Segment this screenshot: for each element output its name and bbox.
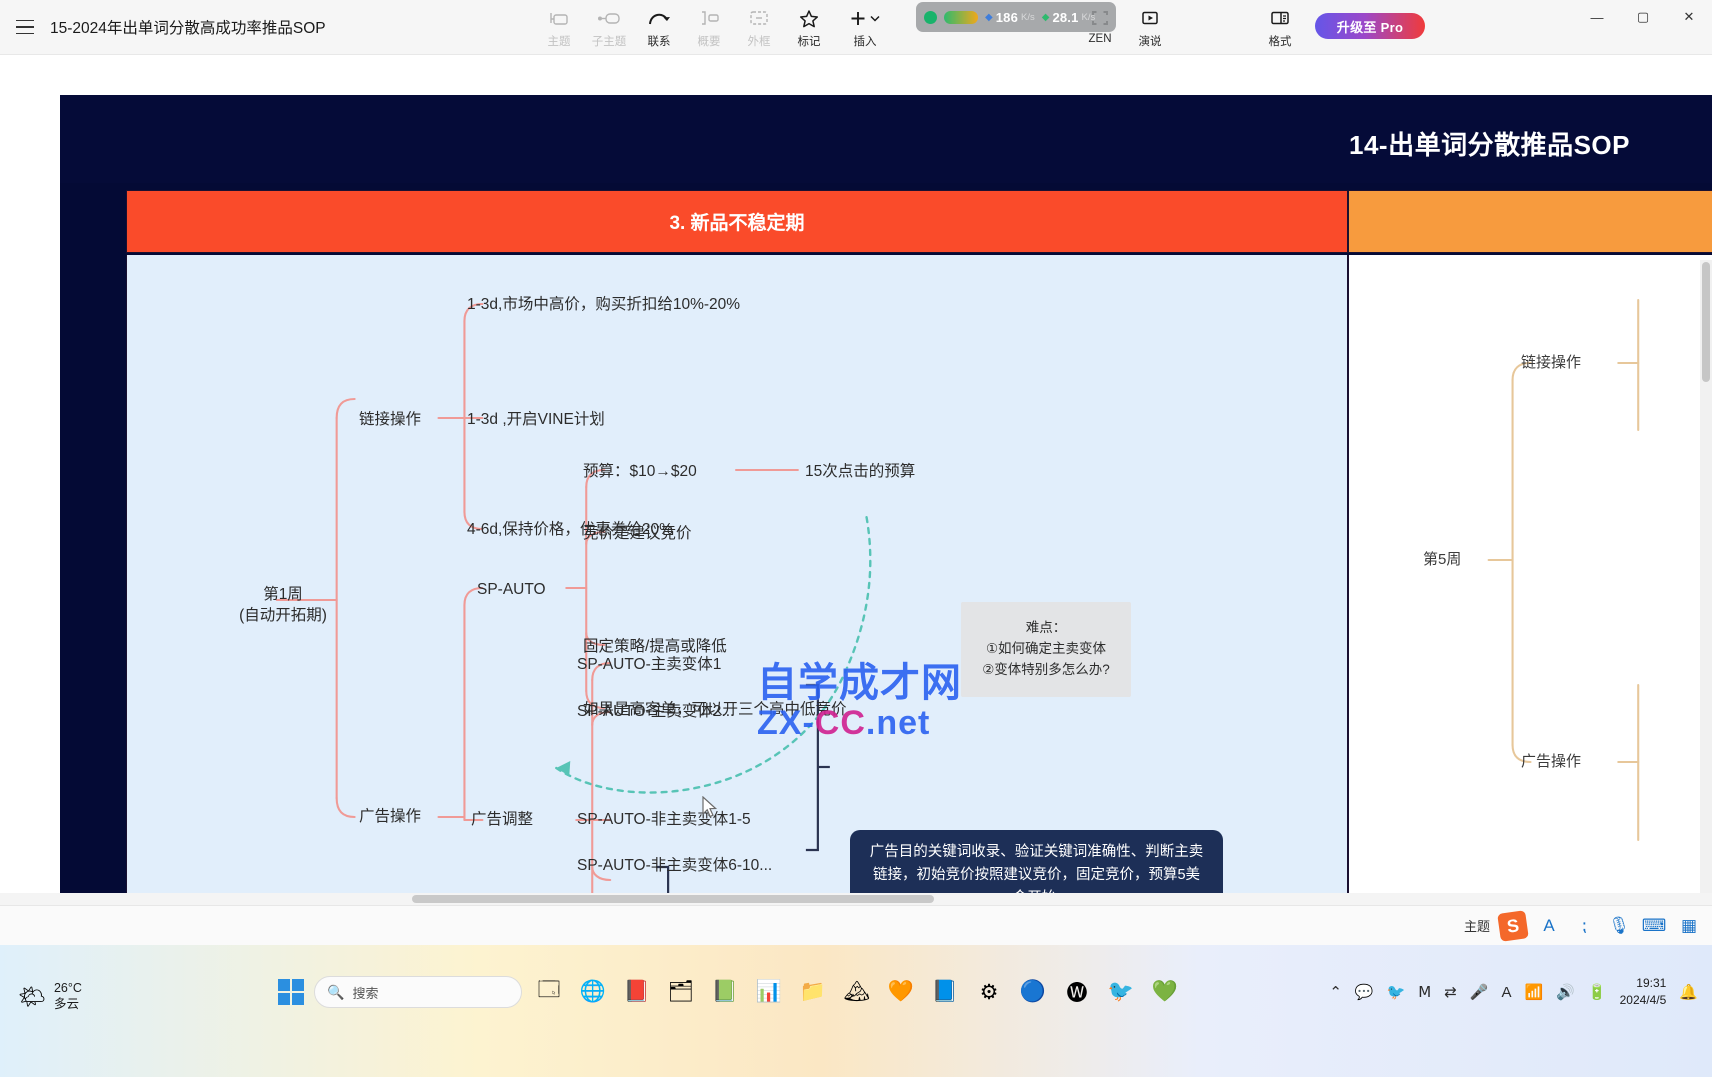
search-placeholder: 搜索 [352, 983, 378, 1002]
insert-plus-icon [846, 7, 884, 29]
node-sp-auto-child-1[interactable]: 竞价是建议竞价 [583, 524, 692, 545]
tool-format-label: 格式 [1269, 33, 1292, 49]
taskbar-app-edge[interactable]: 🌐 [576, 975, 610, 1009]
tencent-tray-icon[interactable]: 🐦 [1387, 983, 1406, 1001]
punctuation-icon[interactable]: ⁏ [1571, 913, 1597, 939]
title-bar: 15-2024年出单词分散高成功率推品SOP 主题 子主题 联系 [0, 0, 1712, 55]
callout-difficulty-line1: ①如何确定主卖变体 [986, 639, 1106, 660]
tool-topic-label: 主题 [548, 33, 571, 49]
taskbar-app-chrome[interactable]: 🔵 [1016, 975, 1050, 1009]
statusbar-theme-label[interactable]: 主题 [1464, 916, 1490, 935]
taskbar-app-file-explorer[interactable]: 🗂 [664, 975, 698, 1009]
upload-arrow-icon: ◆ [1042, 12, 1050, 23]
taskbar: 🌤 26°C 多云 🔍 搜索 🗔 🌐 📕 🗂 📗 📊 📁 🏔 🧡 📘 [0, 945, 1712, 1077]
volume-icon[interactable]: 🔊 [1556, 983, 1575, 1001]
windows-start-icon[interactable] [278, 979, 304, 1005]
column-header-unstable-period: 3. 新品不稳定期 [126, 190, 1348, 253]
system-tray: ⌃ 💬 🐦 Ⅿ ⇄ 🎤 A 📶 🔊 🔋 19:31 2024/4/5 🔔 [1329, 975, 1698, 1010]
window-controls: — ▢ ✕ [1574, 0, 1712, 34]
node-sp-auto-child-0[interactable]: 预算：$10→$20 [583, 462, 697, 483]
marker-icon [797, 7, 821, 29]
apps-grid-icon[interactable]: ▦ [1676, 913, 1702, 939]
taskbar-app-xmind2[interactable]: 🧡 [884, 975, 918, 1009]
summary-icon [697, 7, 721, 29]
gradient-meter-icon [944, 11, 978, 24]
boundary-icon [747, 7, 771, 29]
tool-zen-label: ZEN [1089, 33, 1112, 45]
taskbar-weather-widget[interactable]: 🌤 26°C 多云 [18, 981, 82, 1012]
tool-marker[interactable]: 标记 [784, 4, 834, 49]
search-input[interactable]: 🔍 搜索 [314, 976, 522, 1008]
download-arrow-icon: ◆ [985, 12, 993, 23]
status-bar: 主题 S A ⁏ 🎙 ⌨ ▦ [0, 905, 1712, 945]
taskbar-app-xmind[interactable]: 📊 [752, 975, 786, 1009]
hamburger-menu-icon[interactable] [8, 11, 42, 43]
vertical-scrollbar[interactable] [1700, 260, 1712, 905]
taskbar-app-folder[interactable]: 📁 [796, 975, 830, 1009]
weather-description: 多云 [54, 997, 82, 1013]
taskbar-app-tencent[interactable]: 🐦 [1104, 975, 1138, 1009]
main-toolbar: 主题 子主题 联系 概要 [534, 4, 896, 49]
taskbar-app-wps-pre[interactable]: 📕 [620, 975, 654, 1009]
document-title: 15-2024年出单词分散高成功率推品SOP [50, 16, 326, 38]
watermark-net: .net [866, 704, 930, 742]
tool-relation[interactable]: 联系 [634, 4, 684, 49]
subtopic-icon [596, 7, 622, 29]
keyboard-icon[interactable]: ⌨ [1641, 913, 1667, 939]
node-ad-adjust-child-3[interactable]: SP-AUTO-非主卖变体6-10... [577, 856, 772, 877]
callout-difficulty-title: 难点： [1026, 618, 1067, 639]
network-speed-widget[interactable]: ◆ 186 K/s ◆ 28.1 K/s [916, 2, 1116, 32]
network-tray-icon[interactable]: ⇄ [1444, 983, 1457, 1001]
application-window: 15-2024年出单词分散高成功率推品SOP 主题 子主题 联系 [0, 0, 1712, 1077]
vertical-scrollbar-thumb[interactable] [1702, 262, 1710, 382]
minimize-button[interactable]: — [1574, 0, 1620, 34]
node-link-child-1[interactable]: 1-3d ,开启VINE计划 [467, 410, 605, 431]
upgrade-pro-button[interactable]: 升级至 Pro [1315, 13, 1425, 39]
battery-icon[interactable]: 🔋 [1588, 983, 1607, 1001]
maximize-button[interactable]: ▢ [1620, 0, 1666, 34]
slide-header-title: 14-出单词分散推品SOP [1349, 125, 1630, 162]
taskbar-app-wps[interactable]: 🅦 [1060, 975, 1094, 1009]
node-right-ad-ops[interactable]: 广告操作 [1521, 752, 1581, 772]
taskbar-app-wechat[interactable]: 💚 [1148, 975, 1182, 1009]
microphone-icon[interactable]: 🎙 [1606, 913, 1632, 939]
wifi-icon[interactable]: 📶 [1525, 983, 1544, 1001]
relation-arrowhead-icon [556, 761, 570, 776]
horizontal-scrollbar[interactable] [0, 893, 1712, 905]
node-ad-operations[interactable]: 广告操作 [359, 807, 421, 828]
node-link-operations[interactable]: 链接操作 [359, 410, 421, 431]
node-ad-adjust-child-0[interactable]: SP-AUTO-主卖变体1 [577, 655, 721, 676]
callout-difficulty[interactable]: 难点： ①如何确定主卖变体 ②变体特别多怎么办? [961, 602, 1131, 697]
tool-summary[interactable]: 概要 [684, 4, 734, 49]
callout-difficulty-line2: ②变体特别多怎么办? [982, 660, 1110, 681]
slide-header-band: 14-出单词分散推品SOP [60, 95, 1712, 183]
node-link-child-0[interactable]: 1-3d,市场中高价，购买折扣给10%-20% [467, 295, 740, 316]
letter-a-icon[interactable]: A [1536, 913, 1562, 939]
format-panel-icon [1268, 7, 1292, 29]
taskbar-app-task-view[interactable]: 🗔 [532, 975, 566, 1009]
column-header-next-period [1348, 190, 1712, 253]
tool-present[interactable]: 演说 [1125, 4, 1175, 49]
taskbar-app-alist[interactable]: 🏔 [840, 975, 874, 1009]
tool-subtopic-label: 子主题 [592, 33, 627, 49]
horizontal-scrollbar-thumb[interactable] [412, 895, 934, 903]
present-icon [1138, 7, 1162, 29]
column-header-label: 3. 新品不稳定期 [669, 208, 804, 235]
weather-text: 26°C 多云 [54, 981, 82, 1012]
right-column-body: 第5周 链接操作 广告操作 [1348, 255, 1712, 905]
sogou-a-icon[interactable]: A [1502, 984, 1512, 1001]
tool-subtopic[interactable]: 子主题 [584, 4, 634, 49]
slide-board: 14-出单词分散推品SOP 3. 新品不稳定期 [60, 95, 1712, 905]
sogou-ime-icon[interactable]: S [1497, 910, 1529, 942]
wechat-tray-icon[interactable]: 💬 [1355, 983, 1374, 1001]
partly-cloudy-icon: 🌤 [18, 984, 46, 1010]
node-budget-note[interactable]: 15次点击的预算 [805, 462, 915, 483]
tool-insert-label: 插入 [854, 33, 877, 49]
weather-temperature: 26°C [54, 981, 82, 997]
tool-relation-label: 联系 [648, 33, 671, 49]
watermark: 自学成才网 ZX-CC.net [757, 650, 962, 743]
status-dot-icon [924, 11, 937, 24]
tool-boundary-label: 外框 [748, 33, 771, 49]
tool-summary-label: 概要 [698, 33, 721, 49]
mindmap-column-body: 第1周 (自动开拓期) 链接操作 广告操作 1-3d,市场中高价，购买折扣给10… [126, 255, 1348, 905]
taskbar-clock[interactable]: 19:31 2024/4/5 [1620, 975, 1667, 1010]
search-icon: 🔍 [327, 984, 344, 1001]
node-sp-auto[interactable]: SP-AUTO [477, 580, 546, 601]
relation-icon [646, 7, 672, 29]
mindmap-canvas[interactable]: 14-出单词分散推品SOP 3. 新品不稳定期 [0, 55, 1712, 905]
microphone-tray-icon[interactable]: 🎤 [1470, 983, 1489, 1001]
taskbar-app-settings[interactable]: ⚙ [972, 975, 1006, 1009]
tool-present-label: 演说 [1139, 33, 1162, 49]
node-right-link-ops[interactable]: 链接操作 [1521, 353, 1581, 373]
download-unit: K/s [1021, 12, 1035, 23]
topic-icon [548, 7, 570, 29]
format-toolbar: 格式 [1255, 4, 1305, 49]
node-root-line2: (自动开拓期) [223, 606, 343, 627]
notification-bell-icon[interactable]: 🔔 [1679, 983, 1698, 1001]
mindmap-connectors [127, 255, 1347, 905]
taskbar-app-pdf[interactable]: 📘 [928, 975, 962, 1009]
upload-speed: ◆ 28.1 K/s [1042, 10, 1096, 25]
taskbar-app-excel[interactable]: 📗 [708, 975, 742, 1009]
close-button[interactable]: ✕ [1666, 0, 1712, 34]
download-speed: ◆ 186 K/s [985, 10, 1035, 25]
taskbar-center: 🔍 搜索 🗔 🌐 📕 🗂 📗 📊 📁 🏔 🧡 📘 ⚙ 🔵 🅦 🐦 💚 [278, 975, 1182, 1009]
node-ad-adjust-child-2[interactable]: SP-AUTO-非主卖变体1-5 [577, 810, 751, 831]
tool-topic[interactable]: 主题 [534, 4, 584, 49]
node-root[interactable]: 第1周 (自动开拓期) [223, 585, 343, 627]
download-value: 186 [996, 10, 1018, 25]
node-week-5[interactable]: 第5周 [1423, 550, 1461, 570]
tool-boundary[interactable]: 外框 [734, 4, 784, 49]
tool-marker-label: 标记 [798, 33, 821, 49]
clock-date: 2024/4/5 [1620, 992, 1667, 1009]
node-root-line1: 第1周 [223, 585, 343, 606]
upload-value: 28.1 [1052, 10, 1078, 25]
tool-insert[interactable]: 插入 [834, 4, 896, 49]
clock-time: 19:31 [1620, 975, 1667, 992]
node-ad-adjust[interactable]: 广告调整 [471, 810, 533, 831]
chevron-up-icon[interactable]: ⌃ [1329, 983, 1342, 1001]
tool-format[interactable]: 格式 [1255, 4, 1305, 49]
xmind-tray-icon[interactable]: Ⅿ [1418, 983, 1431, 1001]
node-ad-adjust-child-1[interactable]: SP-AUTO-主卖变体2... [577, 702, 734, 723]
upload-unit: K/s [1082, 12, 1096, 23]
